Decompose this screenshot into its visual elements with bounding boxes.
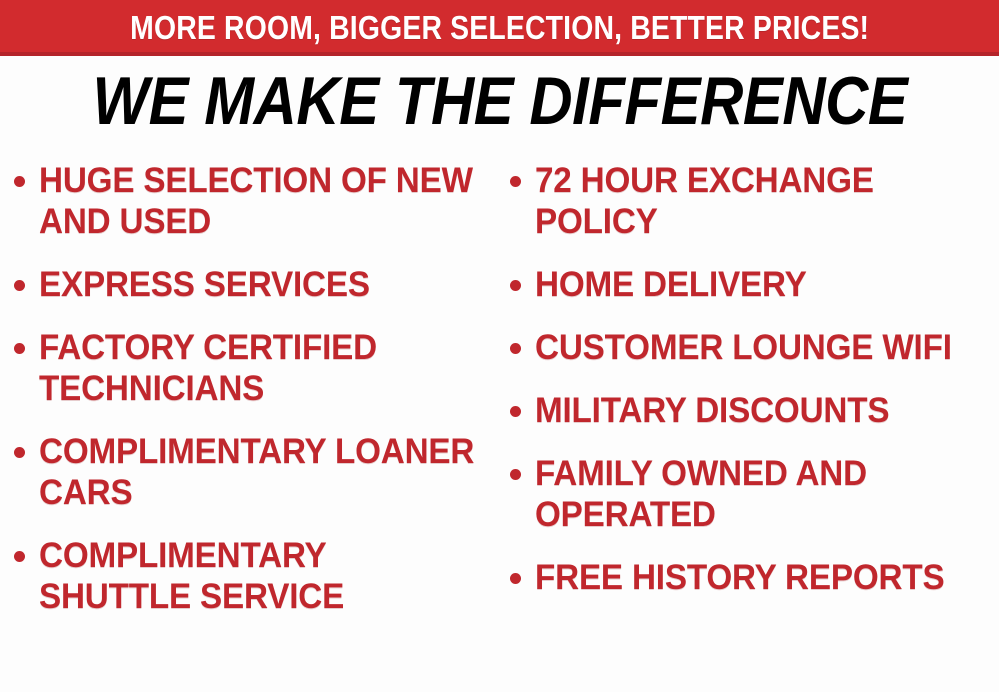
list-item-label: COMPLIMENTARY SHUTTLE SERVICE xyxy=(39,535,481,617)
bullet-dot-icon xyxy=(510,280,521,291)
bullet-dot-icon xyxy=(510,469,521,480)
list-item: CUSTOMER LOUNGE WIFI xyxy=(510,327,999,368)
list-item-label: FREE HISTORY REPORTS xyxy=(535,557,944,598)
benefits-column-left: HUGE SELECTION OF NEW AND USED EXPRESS S… xyxy=(14,160,504,639)
headline: WE MAKE THE DIFFERENCE xyxy=(0,66,999,136)
list-item: FAMILY OWNED AND OPERATED xyxy=(510,453,999,535)
list-item: MILITARY DISCOUNTS xyxy=(510,390,999,431)
list-item: COMPLIMENTARY LOANER CARS xyxy=(14,431,504,513)
bullet-dot-icon xyxy=(510,343,521,354)
list-item-label: CUSTOMER LOUNGE WIFI xyxy=(535,327,952,368)
bullet-dot-icon xyxy=(14,176,25,187)
bullet-dot-icon xyxy=(510,573,521,584)
benefits-columns: HUGE SELECTION OF NEW AND USED EXPRESS S… xyxy=(0,160,999,692)
list-item-label: EXPRESS SERVICES xyxy=(39,264,370,305)
list-item: FACTORY CERTIFIED TECHNICIANS xyxy=(14,327,504,409)
bullet-dot-icon xyxy=(510,406,521,417)
list-item-label: 72 HOUR EXCHANGE POLICY xyxy=(535,160,976,242)
list-item: FREE HISTORY REPORTS xyxy=(510,557,999,598)
list-item: HUGE SELECTION OF NEW AND USED xyxy=(14,160,504,242)
banner-underline-divider xyxy=(0,52,999,56)
headline-text: WE MAKE THE DIFFERENCE xyxy=(92,66,907,136)
list-item-label: HUGE SELECTION OF NEW AND USED xyxy=(39,160,481,242)
list-item: EXPRESS SERVICES xyxy=(14,264,504,305)
benefits-column-right: 72 HOUR EXCHANGE POLICY HOME DELIVERY CU… xyxy=(510,160,999,620)
promo-banner-text: MORE ROOM, BIGGER SELECTION, BETTER PRIC… xyxy=(130,11,869,44)
bullet-dot-icon xyxy=(14,551,25,562)
advertisement-poster: MORE ROOM, BIGGER SELECTION, BETTER PRIC… xyxy=(0,0,999,692)
promo-banner: MORE ROOM, BIGGER SELECTION, BETTER PRIC… xyxy=(0,0,999,55)
list-item-label: FACTORY CERTIFIED TECHNICIANS xyxy=(39,327,481,409)
bullet-dot-icon xyxy=(14,280,25,291)
bullet-dot-icon xyxy=(14,447,25,458)
list-item-label: FAMILY OWNED AND OPERATED xyxy=(535,453,976,535)
list-item: COMPLIMENTARY SHUTTLE SERVICE xyxy=(14,535,504,617)
list-item-label: MILITARY DISCOUNTS xyxy=(535,390,889,431)
list-item-label: HOME DELIVERY xyxy=(535,264,807,305)
list-item: HOME DELIVERY xyxy=(510,264,999,305)
bullet-dot-icon xyxy=(14,343,25,354)
list-item: 72 HOUR EXCHANGE POLICY xyxy=(510,160,999,242)
bullet-dot-icon xyxy=(510,176,521,187)
list-item-label: COMPLIMENTARY LOANER CARS xyxy=(39,431,481,513)
